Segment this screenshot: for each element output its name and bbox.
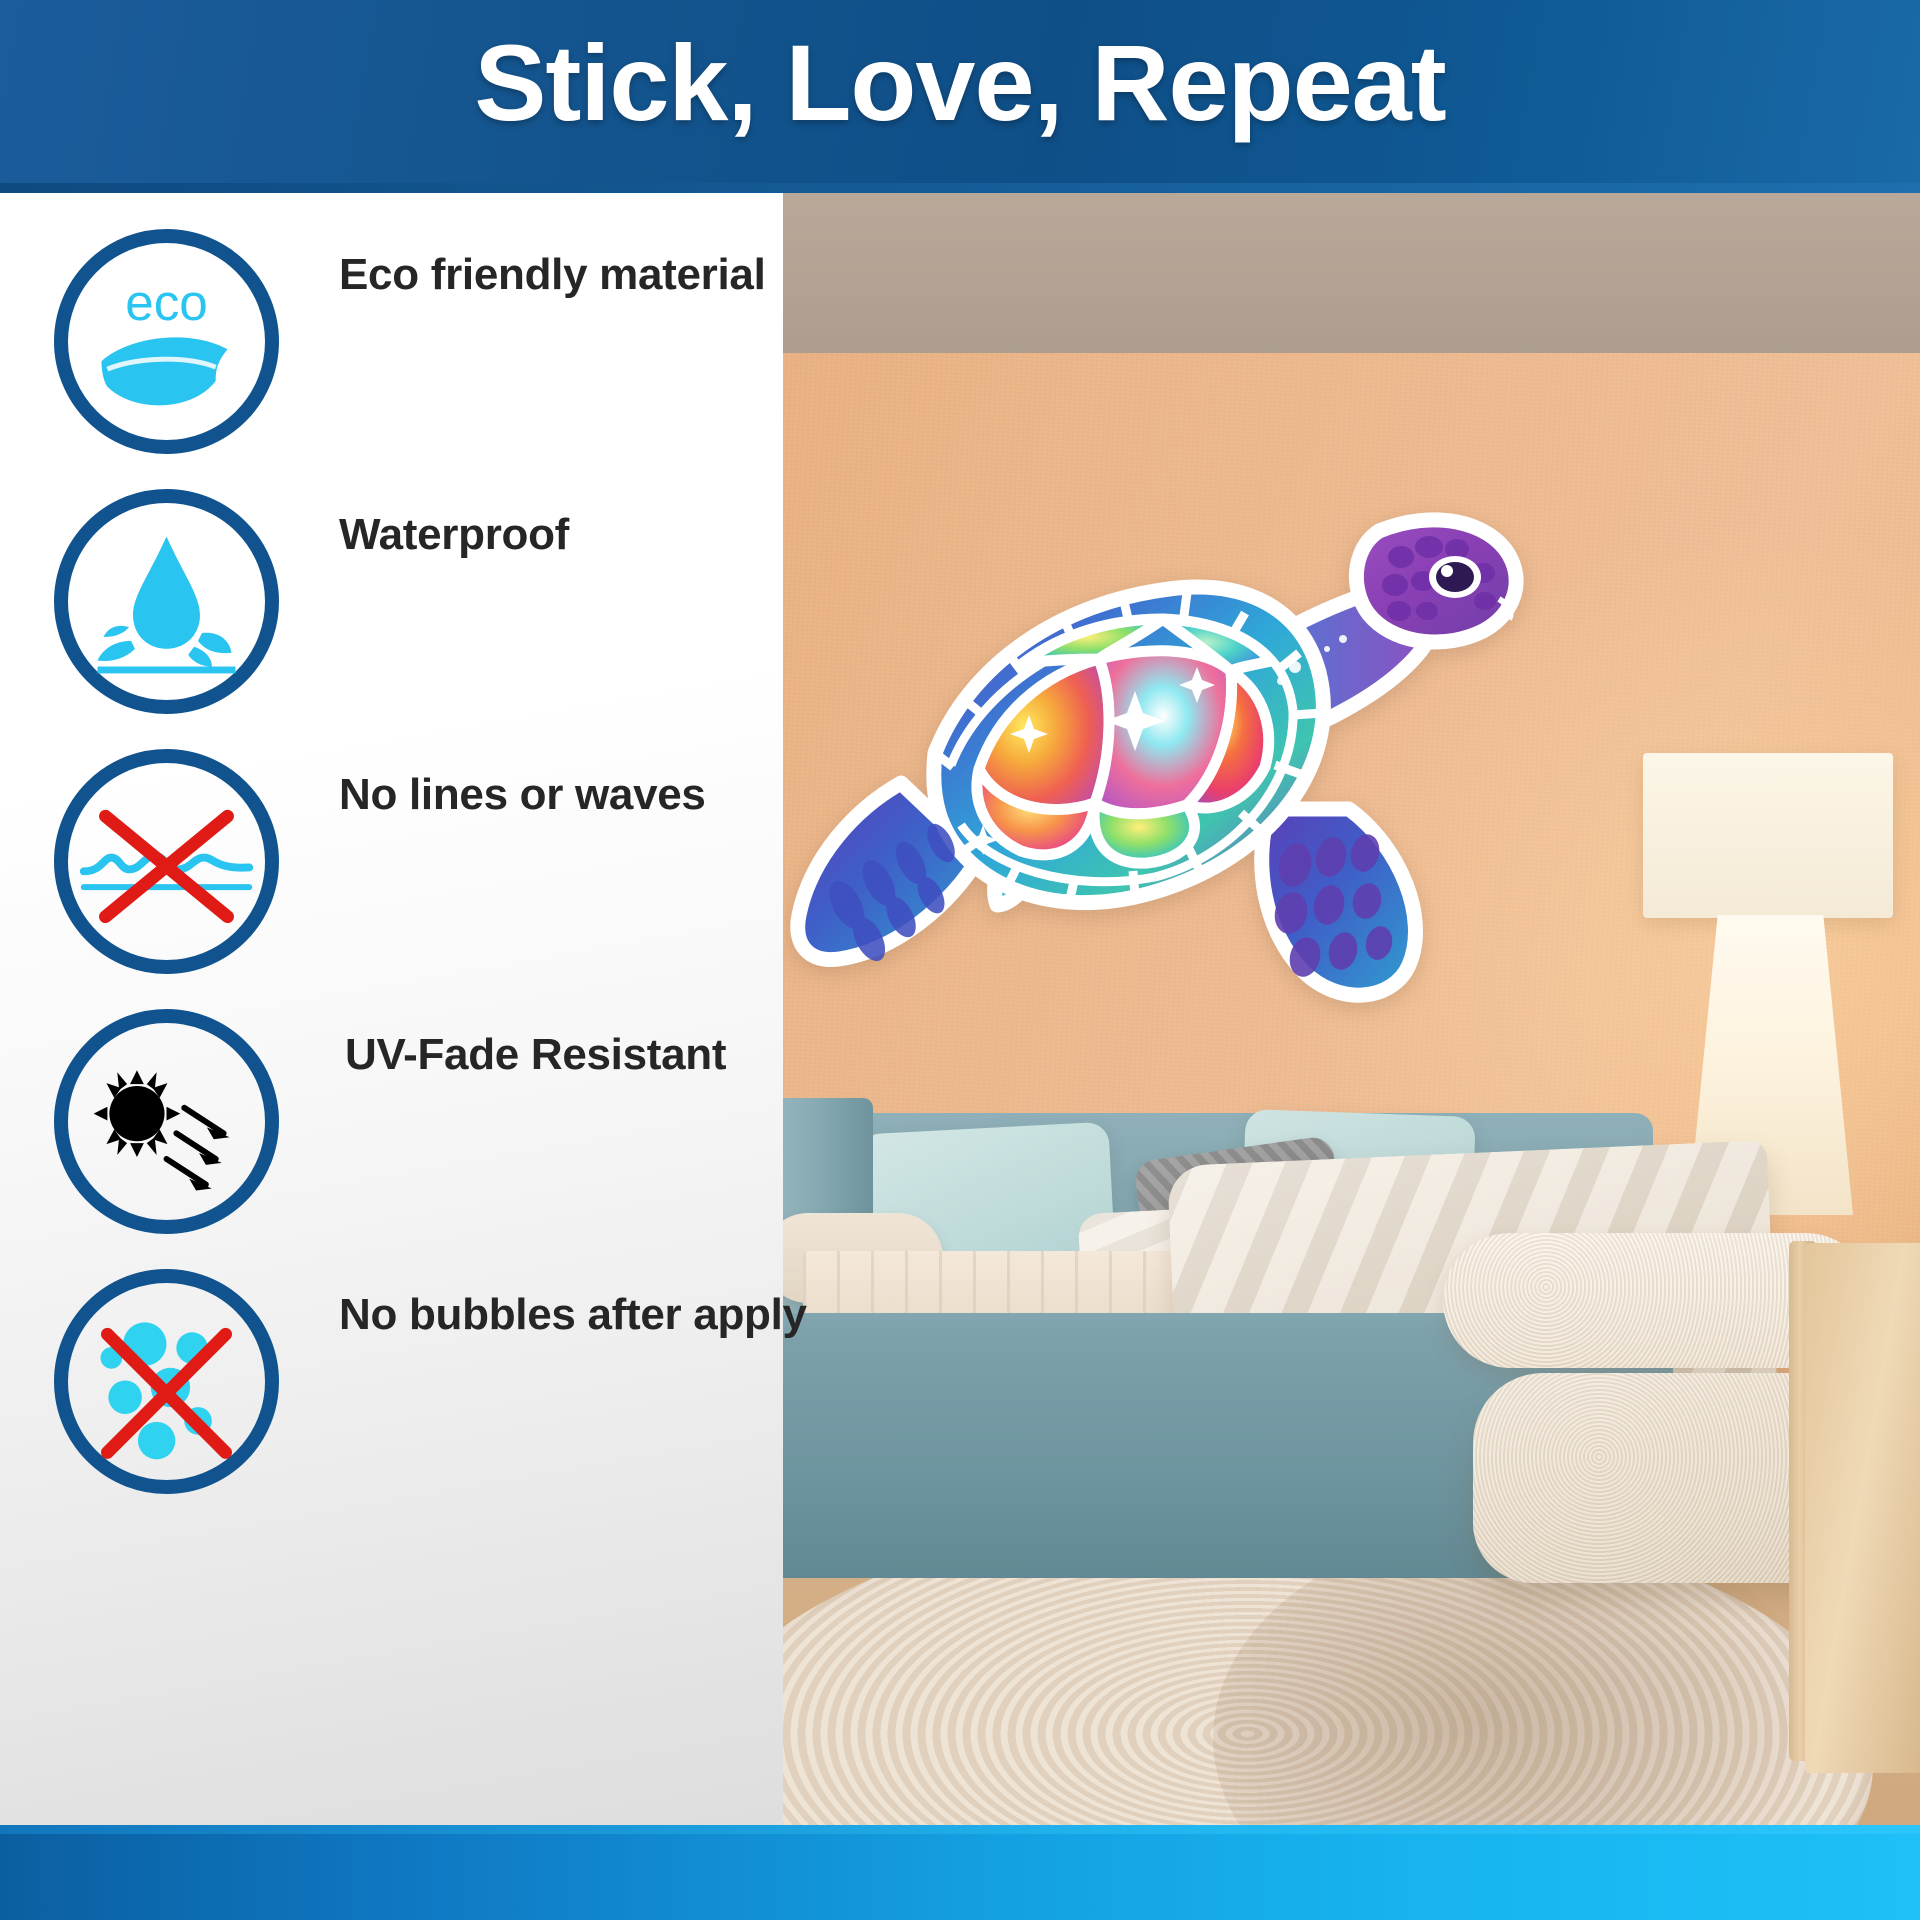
feature-row-no-bubbles: No bubbles after apply bbox=[54, 1269, 807, 1494]
page-title: Stick, Love, Repeat bbox=[0, 26, 1920, 139]
footer-banner bbox=[0, 1825, 1920, 1920]
armchair-wood-panel bbox=[1805, 1243, 1920, 1773]
feature-label: Eco friendly material bbox=[339, 251, 766, 299]
no-bubbles-icon bbox=[54, 1269, 279, 1494]
feature-row-waterproof: Waterproof bbox=[54, 489, 569, 714]
room-photo bbox=[783, 193, 1920, 1825]
feature-label: No lines or waves bbox=[339, 771, 706, 819]
svg-text:eco: eco bbox=[125, 274, 208, 331]
product-infographic: Stick, Love, Repeat eco Eco friendly mat… bbox=[0, 0, 1920, 1920]
upper-wall bbox=[783, 193, 1920, 361]
feature-row-uv-resistant: UV-Fade Resistant bbox=[54, 1009, 726, 1234]
feature-list-panel: eco Eco friendly material Waterproof bbox=[0, 193, 783, 1825]
sea-turtle-wall-decal bbox=[783, 453, 1613, 1093]
lamp-shade bbox=[1643, 753, 1893, 918]
feature-row-eco-friendly: eco Eco friendly material bbox=[54, 229, 766, 454]
feature-label: No bubbles after apply bbox=[339, 1291, 807, 1339]
no-waves-icon bbox=[54, 749, 279, 974]
water-drop-icon bbox=[54, 489, 279, 714]
eco-leaf-icon: eco bbox=[54, 229, 279, 454]
feature-label: UV-Fade Resistant bbox=[345, 1031, 726, 1079]
header-banner: Stick, Love, Repeat bbox=[0, 0, 1920, 193]
feature-label: Waterproof bbox=[339, 511, 569, 559]
sun-rays-icon bbox=[54, 1009, 279, 1234]
feature-row-no-lines: No lines or waves bbox=[54, 749, 706, 974]
